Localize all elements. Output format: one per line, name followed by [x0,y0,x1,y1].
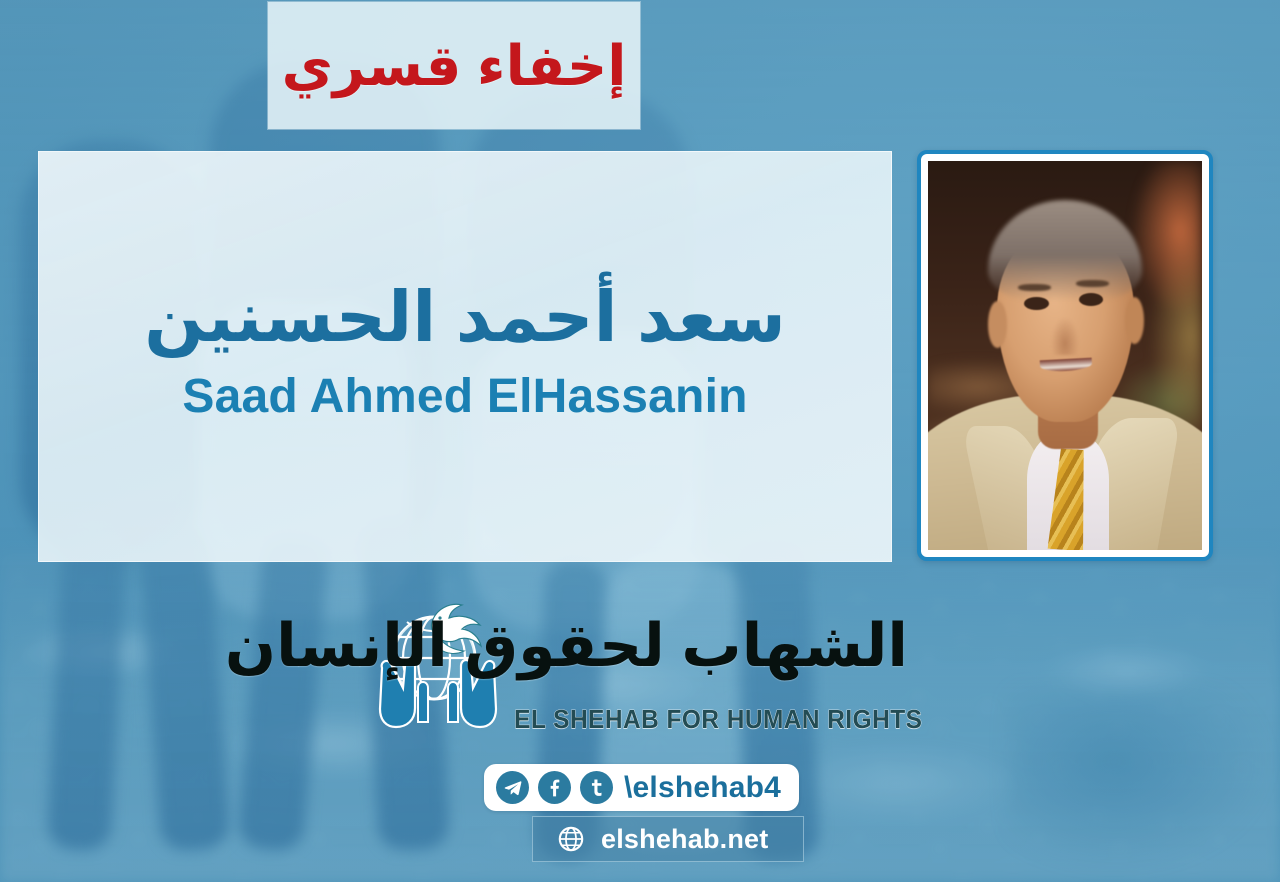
category-banner: إخفاء قسري [268,2,640,129]
portrait-eye-left [1024,297,1049,310]
portrait-frame [917,150,1213,561]
facebook-icon[interactable] [538,771,571,804]
twitter-icon[interactable] [580,771,613,804]
website-bar[interactable]: elshehab.net [532,816,804,862]
portrait-photo [928,161,1202,550]
victim-name-arabic: سعد أحمد الحسنين [144,277,786,358]
social-handle-text: \elshehab4 [624,771,781,805]
organization-name-english: EL SHEHAB FOR HUMAN RIGHTS [514,704,896,735]
telegram-icon[interactable] [496,771,529,804]
organization-logo-block: الشهاب لحقوق الإنسان EL SHEHAB FOR HUMAN… [372,592,908,764]
portrait-eyebrow-left [1018,284,1051,292]
portrait-eyebrow-right [1076,280,1109,288]
category-label: إخفاء قسري [282,38,627,94]
portrait-nose [1051,317,1078,356]
organization-name-arabic: الشهاب لحقوق الإنسان [512,594,908,698]
social-handle-bar[interactable]: \elshehab4 [484,764,799,811]
victim-name-english: Saad Ahmed ElHassanin [182,371,747,424]
website-url-text: elshehab.net [601,824,768,855]
victim-name-card: سعد أحمد الحسنين Saad Ahmed ElHassanin [38,151,892,562]
globe-icon [557,825,585,853]
poster-canvas: إخفاء قسري سعد أحمد الحسنين Saad Ahmed E… [0,0,1280,882]
